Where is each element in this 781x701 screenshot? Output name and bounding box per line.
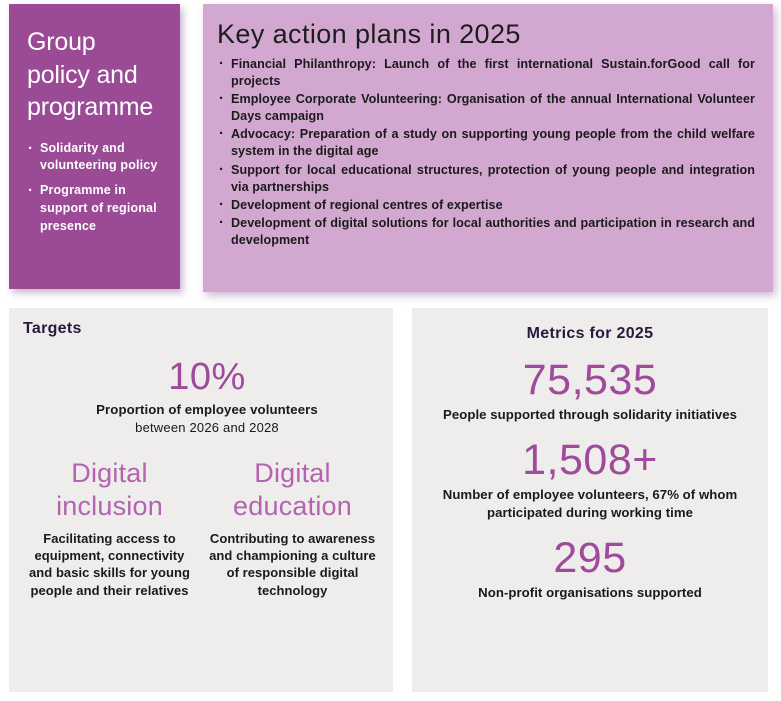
target-percent-block: 10% Proportion of employee volunteers be… [23,358,379,437]
metric-people-supported: 75,535 People supported through solidari… [428,359,752,423]
digital-education-column: Digital education Contributing to awaren… [206,457,379,599]
metric-value: 295 [428,537,752,580]
key-action-plans-bullet: Development of regional centres of exper… [217,197,755,214]
digital-inclusion-title: Digital inclusion [23,457,196,523]
metrics-panel: Metrics for 2025 75,535 People supported… [412,308,768,692]
key-action-plans-bullet-list: Financial Philanthropy: Launch of the fi… [217,56,755,249]
key-action-plans-card: Key action plans in 2025 Financial Phila… [203,4,773,292]
group-policy-card: Group policy and programme Solidarity an… [9,4,180,289]
metric-caption: Number of employee volunteers, 67% of wh… [428,486,752,521]
group-policy-bullet: Programme in support of regional presenc… [27,182,164,235]
metric-value: 75,535 [428,359,752,402]
key-action-plans-bullet: Advocacy: Preparation of a study on supp… [217,126,755,160]
digital-inclusion-column: Digital inclusion Facilitating access to… [23,457,196,599]
key-action-plans-title: Key action plans in 2025 [217,18,755,52]
key-action-plans-bullet: Support for local educational structures… [217,162,755,196]
metric-employee-volunteers: 1,508+ Number of employee volunteers, 67… [428,439,752,521]
metric-value: 1,508+ [428,439,752,482]
digital-target-columns: Digital inclusion Facilitating access to… [23,457,379,599]
group-policy-title: Group policy and programme [27,26,164,124]
key-action-plans-bullet: Financial Philanthropy: Launch of the fi… [217,56,755,90]
group-policy-bullet-list: Solidarity and volunteering policy Progr… [27,140,164,236]
targets-panel: Targets 10% Proportion of employee volun… [9,308,393,692]
digital-inclusion-description: Facilitating access to equipment, connec… [23,530,196,599]
metric-caption: Non-profit organisations supported [428,584,752,601]
metric-nonprofit-organisations: 295 Non-profit organisations supported [428,537,752,601]
target-percent-caption: Proportion of employee volunteers [35,401,379,418]
key-action-plans-bullet: Development of digital solutions for loc… [217,215,755,249]
digital-education-title: Digital education [206,457,379,523]
digital-education-description: Contributing to awareness and championin… [206,530,379,599]
targets-heading: Targets [23,320,379,338]
metric-caption: People supported through solidarity init… [428,406,752,423]
group-policy-bullet: Solidarity and volunteering policy [27,140,164,176]
top-row: Group policy and programme Solidarity an… [0,0,781,300]
metrics-heading: Metrics for 2025 [428,325,752,343]
target-percent-value: 10% [35,358,379,396]
key-action-plans-bullet: Employee Corporate Volunteering: Organis… [217,91,755,125]
target-percent-timeframe: between 2026 and 2028 [35,420,379,437]
